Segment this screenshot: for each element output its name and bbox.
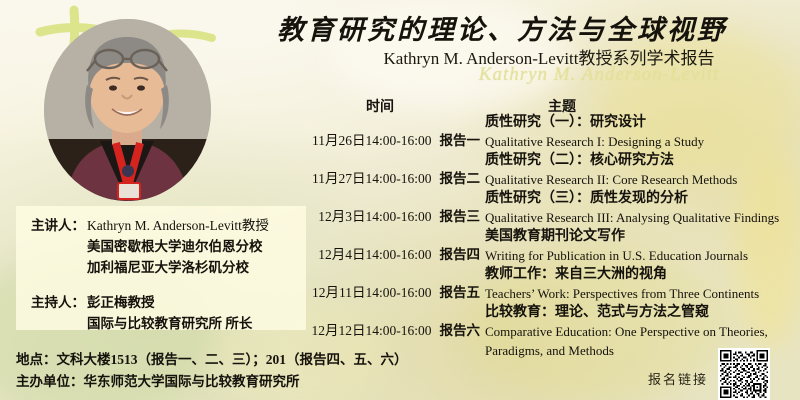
- speaker-affiliation-1: 美国密歇根大学迪尔伯恩分校: [86, 236, 270, 257]
- topic-title-en: Writing for Publication in U.S. Educatio…: [485, 246, 797, 265]
- qr-code-label: 报名链接: [648, 369, 708, 388]
- schedule-topic-row: 教师工作：来自三大洲的视角 Teachers’ Work: Perspectiv…: [485, 265, 797, 303]
- schedule-topic-row: 质性研究（一）：研究设计 Qualitative Research I: Des…: [485, 113, 797, 151]
- schedule-topic-column: 质性研究（一）：研究设计 Qualitative Research I: Des…: [485, 113, 797, 341]
- speaker-info-panel: 主讲人： Kathryn M. Anderson-Levitt教授 美国密歇根大…: [16, 206, 306, 330]
- schedule-date: 11月27日14:00-16:00: [312, 167, 432, 187]
- schedule-time-row: 12月11日14:00-16:00 报告五: [290, 272, 480, 310]
- topic-title-cn: 质性研究（一）：研究设计: [485, 113, 797, 132]
- schedule-session-label: 报告二: [440, 167, 481, 187]
- schedule-topic-row: 质性研究（三）：质性发现的分析 Qualitative Research III…: [485, 189, 797, 227]
- topic-title-cn: 教师工作：来自三大洲的视角: [485, 265, 797, 284]
- speaker-name: Kathryn M. Anderson-Levitt教授: [86, 215, 270, 236]
- schedule-date: 12月11日14:00-16:00: [312, 281, 432, 301]
- topic-title-en: Qualitative Research III: Analysing Qual…: [485, 208, 797, 227]
- schedule-session-label: 报告四: [440, 243, 481, 263]
- schedule-time-row: 11月27日14:00-16:00 报告二: [290, 158, 480, 196]
- schedule-session-label: 报告六: [440, 319, 481, 339]
- schedule-session-label: 报告五: [440, 281, 481, 301]
- schedule-topic-row: 美国教育期刊论文写作 Writing for Publication in U.…: [485, 227, 797, 265]
- host-name: 彭正梅教授: [86, 292, 270, 313]
- host-label: 主持人：: [30, 292, 86, 313]
- speaker-affiliation-2: 加利福尼亚大学洛杉矶分校: [86, 257, 270, 278]
- page-title: 教育研究的理论、方法与全球视野: [212, 8, 792, 47]
- schedule-session-label: 报告三: [440, 205, 481, 225]
- schedule-date: 12月12日14:00-16:00: [312, 319, 432, 339]
- organizer-line: 主办单位：华东师范大学国际与比较教育研究所: [16, 370, 300, 390]
- schedule-time-column: 11月26日14:00-16:00 报告一 11月27日14:00-16:00 …: [290, 120, 480, 348]
- schedule-time-row: 12月3日14:00-16:00 报告三: [290, 196, 480, 234]
- topic-title-cn: 质性研究（二）：核心研究方法: [485, 151, 797, 170]
- schedule-topic-row: 质性研究（二）：核心研究方法 Qualitative Research II: …: [485, 151, 797, 189]
- speaker-portrait: [44, 19, 211, 201]
- column-header-time: 时间: [366, 96, 394, 116]
- poster-canvas: 主讲人： Kathryn M. Anderson-Levitt教授 美国密歇根大…: [0, 0, 800, 400]
- schedule-date: 11月26日14:00-16:00: [312, 129, 432, 149]
- qr-code[interactable]: [718, 348, 770, 400]
- schedule-time-row: 11月26日14:00-16:00 报告一: [290, 120, 480, 158]
- topic-title-cn: 美国教育期刊论文写作: [485, 227, 797, 246]
- topic-title-cn: 比较教育：理论、范式与方法之管窥: [485, 303, 797, 322]
- speaker-signature: Kathryn M. Anderson-Levitt: [400, 64, 798, 86]
- schedule-time-row: 12月12日14:00-16:00 报告六: [290, 310, 480, 348]
- venue-line: 地点：文科大楼1513（报告一、二、三）；201（报告四、五、六）: [16, 348, 408, 368]
- schedule-time-row: 12月4日14:00-16:00 报告四: [290, 234, 480, 272]
- topic-title-en: Qualitative Research I: Designing a Stud…: [485, 132, 797, 151]
- host-title: 国际与比较教育研究所 所长: [86, 313, 270, 334]
- schedule-session-label: 报告一: [440, 129, 481, 149]
- topic-title-cn: 质性研究（三）：质性发现的分析: [485, 189, 797, 208]
- schedule-date: 12月4日14:00-16:00: [318, 243, 431, 263]
- topic-title-en: Qualitative Research II: Core Research M…: [485, 170, 797, 189]
- topic-title-en: Teachers’ Work: Perspectives from Three …: [485, 284, 797, 303]
- schedule-date: 12月3日14:00-16:00: [318, 205, 431, 225]
- schedule-topic-row: 比较教育：理论、范式与方法之管窥 Comparative Education: …: [485, 303, 797, 341]
- speaker-label: 主讲人：: [30, 215, 86, 236]
